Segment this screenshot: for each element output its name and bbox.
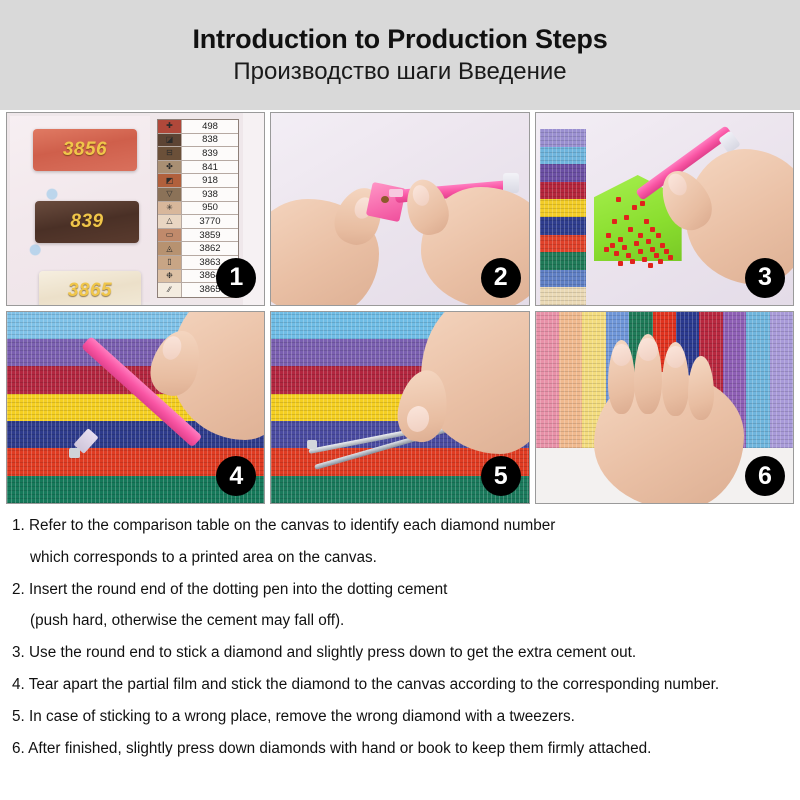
diamond-bead: [632, 205, 637, 210]
step-panel-4: 4: [6, 311, 265, 505]
color-chart-row: ▭3859: [158, 229, 238, 243]
color-swatch-symbol: △: [158, 215, 182, 228]
pen-tip: [389, 189, 403, 197]
step-panel-1: 3856 839 3865 ✚498◪838⊟839✤841◩918▽938✳9…: [6, 112, 265, 306]
fingernail: [666, 346, 685, 368]
diamond-bead: [640, 201, 645, 206]
instruction-line: 1. Refer to the comparison table on the …: [12, 518, 786, 533]
striped-canvas: [540, 129, 586, 305]
diamond-bag: 839: [35, 201, 139, 243]
color-swatch-symbol: ❉: [158, 270, 182, 283]
diamond-bead: [624, 215, 629, 220]
diamond-bead: [650, 227, 655, 232]
color-swatch-symbol: ◪: [158, 134, 182, 147]
diamond-bead: [638, 249, 643, 254]
color-chart-row: ▽938: [158, 188, 238, 202]
canvas-texture: [540, 129, 586, 305]
color-code: 841: [182, 161, 238, 174]
color-code: 950: [182, 202, 238, 215]
instruction-line: 2. Insert the round end of the dotting p…: [12, 582, 786, 597]
diamond-bag-label: 839: [35, 201, 139, 243]
diamond-bead: [634, 241, 639, 246]
diamond-bead: [650, 247, 655, 252]
color-chart-row: △3770: [158, 215, 238, 229]
color-swatch-symbol: ▽: [158, 188, 182, 201]
step-panel-6: 6: [535, 311, 794, 505]
instruction-line: 3. Use the round end to stick a diamond …: [12, 645, 786, 660]
diamond-bead: [612, 219, 617, 224]
diamond-bead: [642, 257, 647, 262]
color-chart-row: ✚498: [158, 120, 238, 134]
color-code: 3770: [182, 215, 238, 228]
diamond-bag: 3865: [39, 271, 141, 305]
diamond-bead: [644, 219, 649, 224]
step-badge: 5: [481, 456, 521, 496]
diamond-bead: [610, 243, 615, 248]
color-swatch-symbol: ▭: [158, 229, 182, 242]
step-badge: 2: [481, 258, 521, 298]
color-swatch-symbol: ◬: [158, 242, 182, 255]
color-code: 918: [182, 174, 238, 187]
step-badge: 6: [745, 456, 785, 496]
color-code: 3862: [182, 242, 238, 255]
instruction-line: which corresponds to a printed area on t…: [12, 550, 786, 565]
diamond-bead: [628, 227, 633, 232]
instruction-sheet: Introduction to Production Steps Произво…: [0, 0, 800, 800]
color-code: 498: [182, 120, 238, 133]
step-badge: 3: [745, 258, 785, 298]
color-code: 839: [182, 147, 238, 160]
diamond-bead: [606, 233, 611, 238]
color-code: 838: [182, 134, 238, 147]
step-panel-5: 5: [270, 311, 529, 505]
color-chart-row: ✳950: [158, 202, 238, 216]
diamond-bead: [630, 259, 635, 264]
diamond-on-tip: [69, 448, 80, 458]
instructions-list: 1. Refer to the comparison table on the …: [0, 512, 800, 772]
color-code: 3859: [182, 229, 238, 242]
diamond-bag-label: 3865: [39, 271, 141, 305]
step-panel-grid: 3856 839 3865 ✚498◪838⊟839✤841◩918▽938✳9…: [6, 112, 794, 504]
color-chart-row: ✤841: [158, 161, 238, 175]
diamond-bag: 3856: [33, 129, 137, 171]
color-swatch-symbol: ✤: [158, 161, 182, 174]
diamond-bead: [664, 249, 669, 254]
step-panel-2: 2: [270, 112, 529, 306]
diamond-bead: [622, 245, 627, 250]
color-swatch-symbol: ✚: [158, 120, 182, 133]
fingernail: [612, 344, 631, 366]
color-swatch-symbol: ⊟: [158, 147, 182, 160]
color-swatch-symbol: ▯: [158, 256, 182, 269]
diamond-bead: [660, 243, 665, 248]
instruction-line: 6. After finished, slightly press down d…: [12, 741, 786, 756]
diamond-bead: [656, 233, 661, 238]
color-swatch-symbol: ◩: [158, 174, 182, 187]
color-chart-row: ⊟839: [158, 147, 238, 161]
instruction-line: 5. In case of sticking to a wrong place,…: [12, 709, 786, 724]
instruction-line: (push hard, otherwise the cement may fal…: [12, 613, 786, 628]
diamond-bead: [658, 259, 663, 264]
color-swatch-symbol: ✳: [158, 202, 182, 215]
color-chart-row: ◩918: [158, 174, 238, 188]
diamond-bead: [618, 237, 623, 242]
step-badge: 1: [216, 258, 256, 298]
removed-diamond: [307, 440, 317, 449]
diamond-bead: [604, 247, 609, 252]
fingernail: [638, 338, 658, 361]
page-title-english: Introduction to Production Steps: [192, 24, 607, 55]
diamond-bead: [614, 251, 619, 256]
diamond-bag-label: 3856: [33, 129, 137, 171]
step-panel-3: 3: [535, 112, 794, 306]
diamond-bead: [646, 239, 651, 244]
diamond-bead: [626, 253, 631, 258]
diamond-bead: [618, 261, 623, 266]
header: Introduction to Production Steps Произво…: [0, 0, 800, 110]
color-chart-row: ◪838: [158, 134, 238, 148]
color-swatch-symbol: ∕∕: [158, 283, 182, 297]
diamond-bead: [638, 233, 643, 238]
diamond-bead: [668, 255, 673, 260]
diamond-bead: [648, 263, 653, 268]
color-code: 938: [182, 188, 238, 201]
finger: [688, 356, 714, 420]
instruction-line: 4. Tear apart the partial film and stick…: [12, 677, 786, 692]
color-chart-row: ◬3862: [158, 242, 238, 256]
diamond-bead: [654, 253, 659, 258]
diamond-bead: [616, 197, 621, 202]
page-title-russian: Производство шаги Введение: [233, 58, 566, 87]
